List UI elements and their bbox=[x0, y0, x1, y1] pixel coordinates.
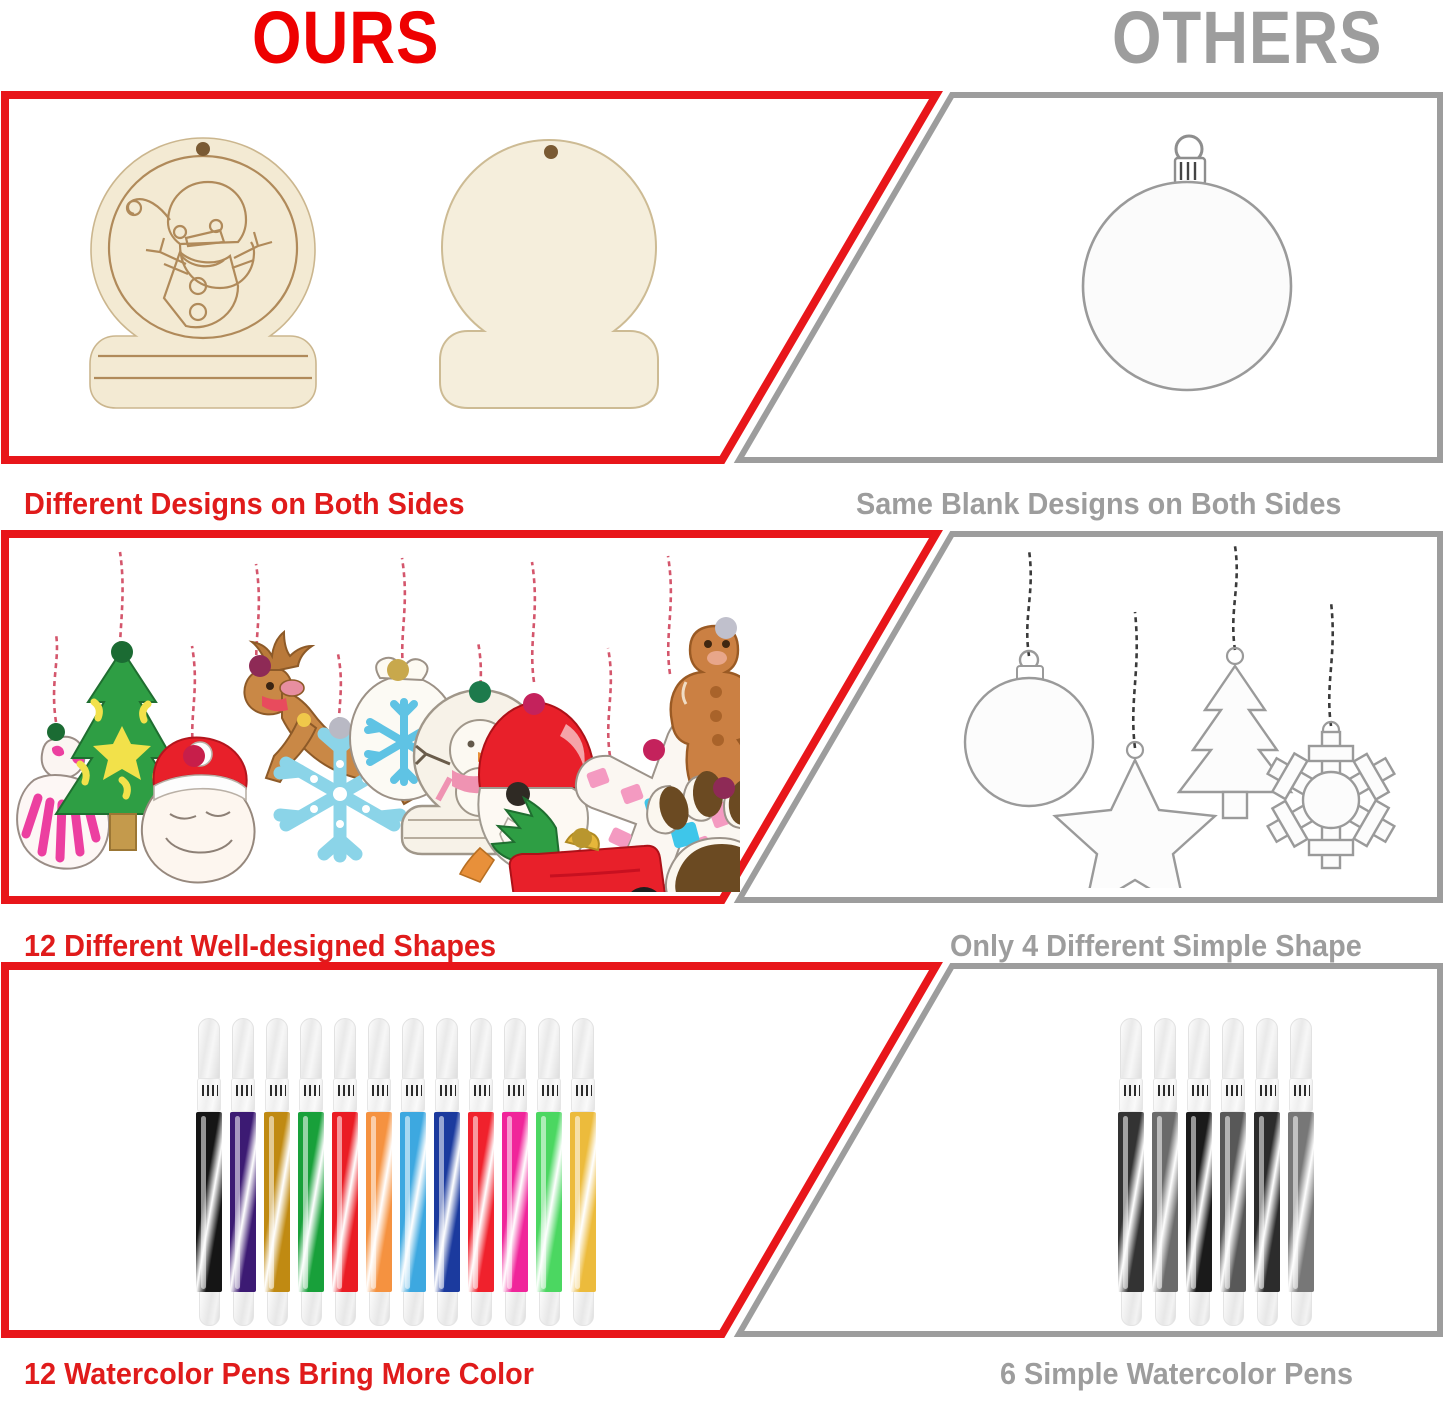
pen-collar bbox=[1255, 1078, 1279, 1112]
row-shapes: 12 Different Well-designed Shapes Only 4… bbox=[0, 528, 1445, 960]
watercolor-pen bbox=[1288, 1018, 1314, 1326]
watercolor-pen bbox=[1254, 1018, 1280, 1326]
pen-vents-icon bbox=[338, 1085, 354, 1096]
watercolor-pen bbox=[536, 1018, 562, 1326]
pen-collar bbox=[537, 1078, 561, 1112]
pen-collar bbox=[1119, 1078, 1143, 1112]
pen-cap bbox=[572, 1018, 594, 1080]
others-pen-row bbox=[1118, 1018, 1322, 1326]
pen-cap bbox=[402, 1018, 424, 1080]
pen-collar bbox=[435, 1078, 459, 1112]
pen-barrel bbox=[332, 1112, 358, 1292]
pen-collar bbox=[299, 1078, 323, 1112]
pen-vents-icon bbox=[270, 1085, 286, 1096]
pen-vents-icon bbox=[576, 1085, 592, 1096]
pen-collar bbox=[571, 1078, 595, 1112]
pen-collar bbox=[367, 1078, 391, 1112]
pen-foot bbox=[369, 1290, 390, 1326]
pen-vents-icon bbox=[1294, 1085, 1310, 1096]
watercolor-pen bbox=[1186, 1018, 1212, 1326]
pen-collar bbox=[197, 1078, 221, 1112]
pen-cap bbox=[266, 1018, 288, 1080]
pen-barrel bbox=[1254, 1112, 1280, 1292]
pen-cap bbox=[232, 1018, 254, 1080]
pen-cap bbox=[198, 1018, 220, 1080]
pen-cap bbox=[504, 1018, 526, 1080]
pen-vents-icon bbox=[304, 1085, 320, 1096]
pen-cap bbox=[334, 1018, 356, 1080]
blank-snowflake-shape bbox=[1268, 722, 1395, 868]
pen-foot bbox=[505, 1290, 526, 1326]
pen-foot bbox=[403, 1290, 424, 1326]
pen-cap bbox=[1154, 1018, 1176, 1080]
pen-barrel bbox=[570, 1112, 596, 1292]
caption-others-designs: Same Blank Designs on Both Sides bbox=[856, 486, 1341, 522]
pen-collar bbox=[469, 1078, 493, 1112]
wood-snowglobe-engraved-snowman bbox=[68, 126, 338, 426]
wood-snowglobe-blank-back bbox=[424, 128, 674, 428]
pen-collar bbox=[265, 1078, 289, 1112]
row-pens: 12 Watercolor Pens Bring More Color 6 Si… bbox=[0, 960, 1445, 1404]
watercolor-pen bbox=[502, 1018, 528, 1326]
caption-ours-pens: 12 Watercolor Pens Bring More Color bbox=[24, 1356, 534, 1392]
watercolor-pen bbox=[366, 1018, 392, 1326]
pen-vents-icon bbox=[542, 1085, 558, 1096]
pen-collar bbox=[503, 1078, 527, 1112]
pen-vents-icon bbox=[236, 1085, 252, 1096]
pen-vents-icon bbox=[406, 1085, 422, 1096]
watercolor-pen bbox=[468, 1018, 494, 1326]
pen-foot bbox=[267, 1290, 288, 1326]
pen-barrel bbox=[1118, 1112, 1144, 1292]
watercolor-pen bbox=[570, 1018, 596, 1326]
watercolor-pen bbox=[230, 1018, 256, 1326]
blank-white-ball-ornament bbox=[1075, 128, 1315, 418]
pen-foot bbox=[437, 1290, 458, 1326]
pen-foot bbox=[573, 1290, 594, 1326]
watercolor-pen bbox=[434, 1018, 460, 1326]
pen-barrel bbox=[264, 1112, 290, 1292]
pen-cap bbox=[1120, 1018, 1142, 1080]
pen-barrel bbox=[468, 1112, 494, 1292]
pen-foot bbox=[471, 1290, 492, 1326]
watercolor-pen bbox=[1152, 1018, 1178, 1326]
pen-vents-icon bbox=[474, 1085, 490, 1096]
pen-barrel bbox=[434, 1112, 460, 1292]
pen-cap bbox=[470, 1018, 492, 1080]
pen-collar bbox=[1187, 1078, 1211, 1112]
pen-collar bbox=[231, 1078, 255, 1112]
watercolor-pen bbox=[196, 1018, 222, 1326]
pen-collar bbox=[1153, 1078, 1177, 1112]
caption-others-pens: 6 Simple Watercolor Pens bbox=[1000, 1356, 1353, 1392]
pen-cap bbox=[1256, 1018, 1278, 1080]
pen-cap bbox=[538, 1018, 560, 1080]
watercolor-pen bbox=[298, 1018, 324, 1326]
pen-barrel bbox=[400, 1112, 426, 1292]
pen-collar bbox=[401, 1078, 425, 1112]
pen-barrel bbox=[1288, 1112, 1314, 1292]
ours-shapes-group bbox=[10, 542, 740, 892]
pen-cap bbox=[1290, 1018, 1312, 1080]
caption-ours-shapes: 12 Different Well-designed Shapes bbox=[24, 928, 496, 964]
pen-foot bbox=[1223, 1290, 1244, 1326]
pen-cap bbox=[1188, 1018, 1210, 1080]
pen-barrel bbox=[230, 1112, 256, 1292]
pen-cap bbox=[436, 1018, 458, 1080]
pen-collar bbox=[1289, 1078, 1313, 1112]
ours-pen-row bbox=[196, 1018, 604, 1326]
pen-vents-icon bbox=[1260, 1085, 1276, 1096]
pen-barrel bbox=[502, 1112, 528, 1292]
row-designs: Different Designs on Both Sides Same Bla… bbox=[0, 88, 1445, 518]
pen-foot bbox=[1189, 1290, 1210, 1326]
pen-barrel bbox=[366, 1112, 392, 1292]
others-shapes-group bbox=[955, 538, 1435, 888]
watercolor-pen bbox=[1118, 1018, 1144, 1326]
caption-others-shapes: Only 4 Different Simple Shape bbox=[950, 928, 1362, 964]
pen-barrel bbox=[1186, 1112, 1212, 1292]
santa-face-ornament bbox=[142, 738, 255, 883]
pen-collar bbox=[1221, 1078, 1245, 1112]
pen-foot bbox=[539, 1290, 560, 1326]
pen-barrel bbox=[536, 1112, 562, 1292]
pen-barrel bbox=[1152, 1112, 1178, 1292]
pen-barrel bbox=[298, 1112, 324, 1292]
pen-collar bbox=[333, 1078, 357, 1112]
header-others: OTHERS bbox=[1112, 0, 1382, 82]
watercolor-pen bbox=[264, 1018, 290, 1326]
pen-vents-icon bbox=[372, 1085, 388, 1096]
pen-vents-icon bbox=[202, 1085, 218, 1096]
watercolor-pen bbox=[332, 1018, 358, 1326]
pen-vents-icon bbox=[1124, 1085, 1140, 1096]
pen-foot bbox=[233, 1290, 254, 1326]
pen-cap bbox=[368, 1018, 390, 1080]
pen-foot bbox=[1155, 1290, 1176, 1326]
watercolor-pen bbox=[1220, 1018, 1246, 1326]
pen-foot bbox=[1257, 1290, 1278, 1326]
caption-ours-designs: Different Designs on Both Sides bbox=[24, 486, 465, 522]
pen-foot bbox=[335, 1290, 356, 1326]
pen-cap bbox=[1222, 1018, 1244, 1080]
blank-ball-shape bbox=[965, 651, 1093, 806]
pen-vents-icon bbox=[1226, 1085, 1242, 1096]
pen-foot bbox=[301, 1290, 322, 1326]
pen-foot bbox=[199, 1290, 220, 1326]
pen-vents-icon bbox=[508, 1085, 524, 1096]
pen-barrel bbox=[1220, 1112, 1246, 1292]
pen-cap bbox=[300, 1018, 322, 1080]
header-ours: OURS bbox=[252, 0, 439, 82]
watercolor-pen bbox=[400, 1018, 426, 1326]
pen-vents-icon bbox=[1158, 1085, 1174, 1096]
comparison-header: OURS OTHERS bbox=[0, 0, 1445, 88]
pen-barrel bbox=[196, 1112, 222, 1292]
pen-foot bbox=[1291, 1290, 1312, 1326]
pen-foot bbox=[1121, 1290, 1142, 1326]
pen-vents-icon bbox=[1192, 1085, 1208, 1096]
pen-vents-icon bbox=[440, 1085, 456, 1096]
